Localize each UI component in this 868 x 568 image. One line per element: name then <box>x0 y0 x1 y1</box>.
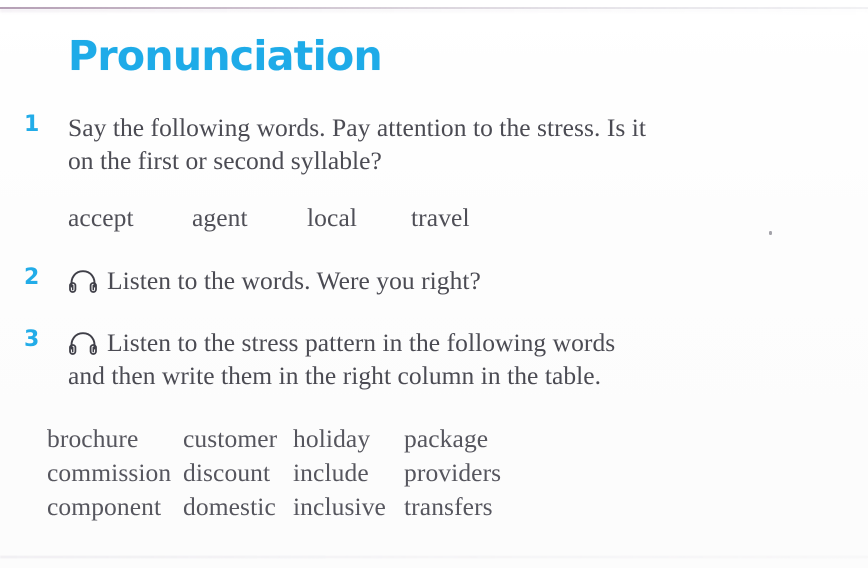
word-local: local <box>307 203 357 233</box>
word-commission: commission <box>47 458 171 488</box>
word-include: include <box>293 458 369 488</box>
word-component: component <box>47 492 161 522</box>
word-package: package <box>404 424 488 454</box>
word-holiday: holiday <box>293 424 370 454</box>
word-grid-row: brochure customer holiday package <box>0 424 868 458</box>
exercise-number-2: 2 <box>24 265 52 292</box>
word-domestic: domestic <box>183 492 276 522</box>
word-discount: discount <box>183 458 270 488</box>
exercise-1-line-1: Say the following words. Pay attention t… <box>68 112 858 145</box>
word-travel: travel <box>411 203 470 233</box>
exercise-text-3: Listen to the stress pattern in the foll… <box>68 327 858 392</box>
word-agent: agent <box>192 203 248 233</box>
headphones-icon <box>68 268 98 294</box>
exercise-text-2: Listen to the words. Were you right? <box>68 265 858 298</box>
exercise-number-3: 3 <box>24 327 52 354</box>
page-title: Pronunciation <box>68 36 382 77</box>
word-brochure: brochure <box>47 424 138 454</box>
exercise-1-line-2: on the first or second syllable? <box>68 145 858 178</box>
word-customer: customer <box>183 424 277 454</box>
word-inclusive: inclusive <box>293 492 386 522</box>
exercise-3-word-grid: brochure customer holiday package commis… <box>0 424 868 526</box>
top-divider-rule-shadow <box>0 9 868 12</box>
print-speck <box>769 231 772 235</box>
exercise-number-1: 1 <box>24 112 52 139</box>
exercise-2-line-1: Listen to the words. Were you right? <box>107 266 481 295</box>
word-transfers: transfers <box>404 492 493 522</box>
bottom-divider-rule <box>0 556 868 558</box>
exercise-3-line-2: and then write them in the right column … <box>68 360 858 393</box>
exercise-text-1: Say the following words. Pay attention t… <box>68 112 858 177</box>
exercise-3-line-1: Listen to the stress pattern in the foll… <box>107 328 615 357</box>
word-grid-row: component domestic inclusive transfers <box>0 492 868 526</box>
word-providers: providers <box>404 458 501 488</box>
word-accept: accept <box>68 203 134 233</box>
textbook-page: Pronunciation 1 Say the following words.… <box>0 0 868 568</box>
headphones-icon <box>68 330 98 356</box>
word-grid-row: commission discount include providers <box>0 458 868 492</box>
